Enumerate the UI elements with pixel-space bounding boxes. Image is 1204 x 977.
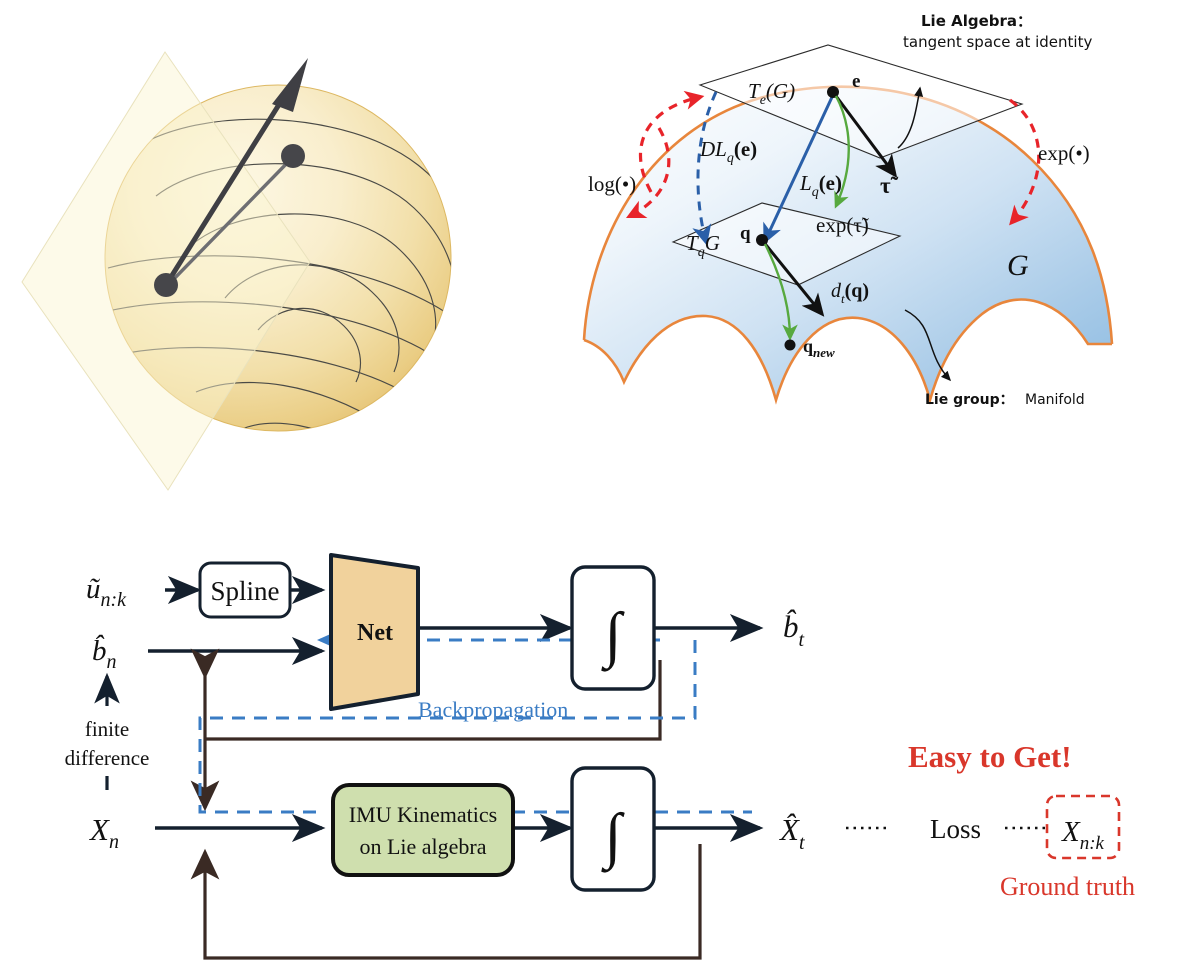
net-label: Net bbox=[357, 620, 393, 646]
lie-group-heading: Lie group： bbox=[925, 392, 1014, 408]
ground-truth-caption: Ground truth bbox=[1000, 872, 1135, 901]
finite-difference-line2: difference bbox=[65, 746, 150, 770]
identity-label-e: e bbox=[852, 71, 860, 92]
point-start bbox=[154, 273, 178, 297]
q-label: q bbox=[740, 223, 751, 244]
input-u-tilde: ũn:k bbox=[86, 573, 127, 611]
lie-algebra-heading: Lie Algebra： bbox=[921, 12, 1032, 30]
q-new-point bbox=[785, 340, 796, 351]
sphere-manifold-panel bbox=[22, 52, 487, 502]
lie-algebra-caption: tangent space at identity bbox=[903, 33, 1092, 51]
output-x-hat-t: X̂t bbox=[778, 812, 805, 854]
input-x-n: Xn bbox=[88, 812, 119, 853]
exp-tau-label: exp(τ̃) bbox=[816, 213, 869, 237]
ground-truth-value: Xn:k bbox=[1061, 816, 1105, 854]
imu-label-line2: on Lie algebra bbox=[359, 834, 486, 859]
backprop-label: Backpropagation bbox=[418, 697, 568, 722]
imu-label-line1: IMU Kinematics bbox=[349, 802, 497, 827]
manifold-label-G: G bbox=[1007, 249, 1029, 282]
loss-label: Loss bbox=[930, 814, 981, 844]
q-new-label: qnew bbox=[803, 336, 835, 360]
spline-label: Spline bbox=[210, 576, 279, 606]
easy-to-get-label: Easy to Get! bbox=[908, 739, 1072, 774]
figure-canvas: Te(G) e τ̃ exp(τ̃) log(•) exp(•) DLq(e) … bbox=[0, 0, 1204, 977]
lie-group-manifold-panel: Te(G) e τ̃ exp(τ̃) log(•) exp(•) DLq(e) … bbox=[584, 12, 1112, 408]
point-end bbox=[281, 144, 305, 168]
figure-root: Te(G) e τ̃ exp(τ̃) log(•) exp(•) DLq(e) … bbox=[0, 0, 1204, 977]
finite-difference-line1: finite bbox=[85, 717, 129, 741]
exp-label: exp(•) bbox=[1038, 141, 1090, 165]
network-block-diagram-panel: Spline Net ∫ IMU Kinematics on Lie algeb… bbox=[65, 555, 1135, 958]
output-b-hat-t: b̂t bbox=[783, 609, 805, 651]
input-b-hat: b̂n bbox=[92, 633, 117, 673]
imu-kinematics-box[interactable] bbox=[333, 785, 513, 875]
lie-group-caption: Manifold bbox=[1025, 392, 1085, 408]
log-label: log(•) bbox=[588, 172, 636, 196]
